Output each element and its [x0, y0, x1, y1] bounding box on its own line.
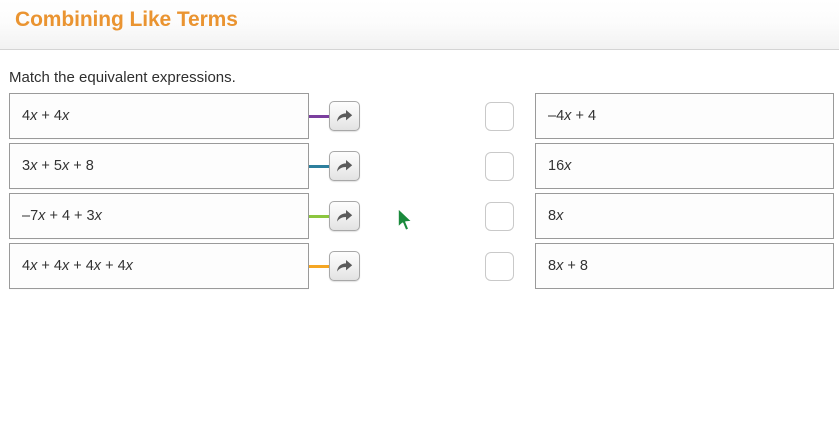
match-checkbox[interactable] [485, 152, 514, 181]
connector-line [309, 165, 331, 168]
match-checkbox[interactable] [485, 102, 514, 131]
forward-arrow-icon [335, 158, 354, 174]
right-expression-box[interactable]: 8x [535, 193, 834, 239]
connector-line [309, 215, 331, 218]
forward-arrow-button[interactable] [329, 151, 360, 181]
left-expression-box[interactable]: 3x + 5x + 8 [9, 143, 309, 189]
right-expression-text: 8x [548, 208, 563, 224]
match-row: –7x + 4 + 3x 8x [0, 193, 839, 243]
forward-arrow-button[interactable] [329, 201, 360, 231]
header-bar: Combining Like Terms [0, 0, 839, 50]
right-expression-text: 8x + 8 [548, 258, 588, 274]
forward-arrow-icon [335, 208, 354, 224]
instruction-text: Match the equivalent expressions. [9, 69, 236, 86]
match-checkbox[interactable] [485, 252, 514, 281]
match-area: 4x + 4x –4x + 4 3x + 5x + 8 [0, 93, 839, 293]
connector-line [309, 265, 331, 268]
left-expression-text: 3x + 5x + 8 [22, 158, 94, 174]
left-expression-text: 4x + 4x + 4x + 4x [22, 258, 133, 274]
forward-arrow-button[interactable] [329, 101, 360, 131]
match-row: 3x + 5x + 8 16x [0, 143, 839, 193]
match-row: 4x + 4x + 4x + 4x 8x + 8 [0, 243, 839, 293]
forward-arrow-button[interactable] [329, 251, 360, 281]
left-expression-text: –7x + 4 + 3x [22, 208, 102, 224]
match-row: 4x + 4x –4x + 4 [0, 93, 839, 143]
right-expression-text: 16x [548, 158, 571, 174]
right-expression-box[interactable]: 16x [535, 143, 834, 189]
forward-arrow-icon [335, 258, 354, 274]
connector-line [309, 115, 331, 118]
match-checkbox[interactable] [485, 202, 514, 231]
left-expression-text: 4x + 4x [22, 108, 69, 124]
page-title: Combining Like Terms [15, 8, 238, 32]
right-expression-box[interactable]: –4x + 4 [535, 93, 834, 139]
left-expression-box[interactable]: 4x + 4x [9, 93, 309, 139]
left-expression-box[interactable]: –7x + 4 + 3x [9, 193, 309, 239]
left-expression-box[interactable]: 4x + 4x + 4x + 4x [9, 243, 309, 289]
right-expression-text: –4x + 4 [548, 108, 596, 124]
forward-arrow-icon [335, 108, 354, 124]
right-expression-box[interactable]: 8x + 8 [535, 243, 834, 289]
